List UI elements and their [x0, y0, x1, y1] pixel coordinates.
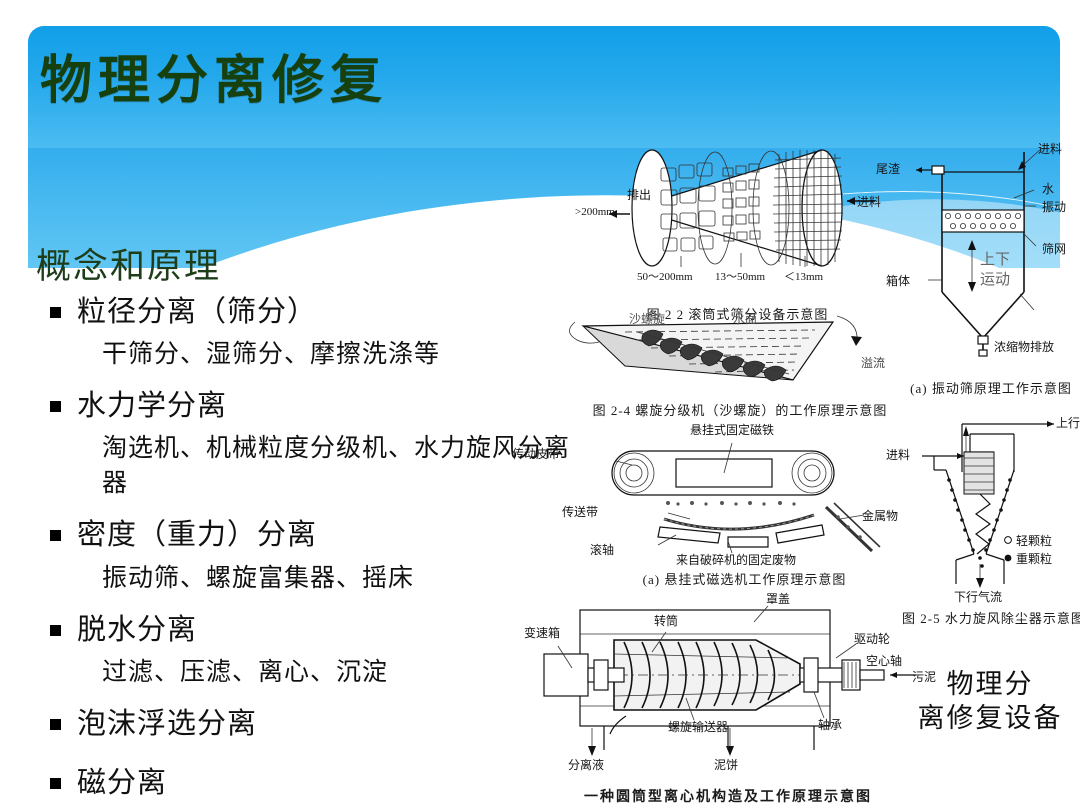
figure-label-light-particle: 轻颗粒	[1016, 532, 1052, 549]
figure-label-concentrate-discharge: 浓缩物排放	[994, 338, 1054, 355]
figure-label-feed: 进料	[886, 446, 910, 463]
figure-label-hollow-shaft: 空心轴	[866, 652, 902, 669]
figure-label-screen-mesh: 筛网	[1042, 240, 1066, 257]
figure-label-heavy-particle: 重颗粒	[1016, 550, 1052, 567]
figure-label-up-down-1: 上下	[980, 248, 1010, 269]
figure-label-discharge: 排出	[627, 186, 651, 203]
bullet-main-text: 磁分离	[77, 763, 167, 804]
figure-group-caption-line2: 离修复设备	[905, 702, 1075, 736]
figure-label-down-flow: 下行气流	[954, 588, 1002, 605]
figure-label-size-out: >200mm	[575, 206, 615, 218]
bullet-square-icon	[50, 719, 61, 730]
figure-label-water: 水	[1042, 180, 1054, 197]
figure-label-screw-conveyor: 螺旋输送器	[668, 718, 728, 735]
figure-label-mud-cake: 泥饼	[714, 756, 738, 773]
figure-label-bearing: 轴承	[818, 716, 842, 733]
figure-label-tailings: 尾渣	[876, 160, 900, 177]
bullet-main-text: 粒径分离（筛分）	[77, 292, 317, 333]
figure-label-crusher-waste: 来自破碎机的固定废物	[676, 551, 796, 568]
figure-caption: 图 2-4 螺旋分级机（沙螺旋）的工作原理示意图	[565, 400, 915, 419]
figure-label-conveyor: 传送带	[562, 503, 598, 520]
figure-spiral-classifier: 沙螺旋 水面 溢流 图 2-4 螺旋分级机（沙螺旋）的工作原理示意图	[565, 308, 915, 418]
bullet-main-text: 泡沫浮选分离	[77, 704, 257, 745]
figure-label-feed: 进料	[1038, 140, 1062, 157]
bullet-square-icon	[50, 530, 61, 541]
figure-caption: 一种圆筒型离心机构造及工作原理示意图	[518, 786, 938, 806]
list-item: 密度（重力）分离	[36, 515, 581, 556]
figure-caption: (a) 悬挂式磁选机工作原理示意图	[572, 569, 917, 588]
figure-label-roller: 滚轴	[590, 541, 614, 558]
bullet-square-icon	[50, 625, 61, 636]
figure-label-zone1: 50～200mm	[637, 268, 693, 284]
figure-group-caption-line1: 物理分	[905, 668, 1075, 702]
figure-label-metal: 金属物	[862, 507, 898, 524]
figure-label-box-body: 箱体	[886, 272, 910, 289]
figure-label-drive-wheel: 驱动轮	[854, 630, 890, 647]
bullet-list: 粒径分离（筛分） 干筛分、湿筛分、摩擦洗涤等 水力学分离 淘选机、机械粒度分级机…	[36, 292, 581, 808]
figure-label-overflow: 溢流	[861, 354, 885, 371]
figure-trommel-screen: 排出 >200mm 进料 50～200mm 13～50mm ＜13mm 图 2 …	[575, 138, 900, 308]
figure-caption: (a) 振动筛原理工作示意图	[902, 378, 1080, 397]
figure-label-zone2: 13～50mm	[715, 268, 765, 284]
bullet-main-text: 脱水分离	[77, 610, 197, 651]
list-item: 泡沫浮选分离	[36, 704, 581, 745]
list-item: 水力学分离	[36, 386, 581, 427]
figure-cyclone: 进料 上行气流 下行气流 轻颗粒 重颗粒 图 2-5 水力旋风除尘器示意图	[902, 408, 1080, 623]
figure-label-drive-belt: 传动皮带	[512, 445, 560, 462]
figure-label-up-down-2: 运动	[980, 268, 1010, 289]
bullet-square-icon	[50, 307, 61, 318]
figure-vibrating-screen: 进料 水 振动 筛网 尾渣 箱体 上下 运动 浓缩物排放 (a) 振动筛原理工作…	[902, 142, 1080, 392]
figure-label-drum: 转筒	[654, 612, 678, 629]
figure-label-up-flow: 上行气流	[1056, 414, 1080, 431]
bullet-main-text: 密度（重力）分离	[77, 515, 317, 556]
figure-label-separated-liquid: 分离液	[568, 756, 604, 773]
figure-label-vibration: 振动	[1042, 198, 1066, 215]
list-item: 磁分离	[36, 763, 581, 804]
list-item: 粒径分离（筛分）	[36, 292, 581, 333]
bullet-square-icon	[50, 778, 61, 789]
figure-label-zone3: ＜13mm	[784, 268, 823, 284]
figure-group-caption: 物理分 离修复设备	[905, 668, 1075, 736]
figure-label-spiral: 沙螺旋	[629, 310, 665, 327]
figure-label-feed: 进料	[857, 193, 881, 210]
figure-label-suspended-magnet: 悬挂式固定磁铁	[690, 421, 774, 438]
figure-label-water-surface: 水面	[733, 310, 757, 327]
figure-magnetic-separator: 传动皮带 悬挂式固定磁铁 传送带 滚轴 来自破碎机的固定废物 金属物 (a) 悬…	[572, 423, 917, 583]
figure-label-cover: 罩盖	[766, 590, 790, 607]
list-item: 脱水分离	[36, 610, 581, 651]
presentation-slide: 物理分离修复 概念和原理 粒径分离（筛分） 干筛分、湿筛分、摩擦洗涤等 水力学分…	[0, 0, 1080, 810]
bullet-square-icon	[50, 401, 61, 412]
figure-centrifuge: 变速箱 转筒 罩盖 驱动轮 空心轴 污泥 轴承 螺旋输送器 分离液 泥饼 一种圆…	[518, 588, 938, 798]
figure-label-gearbox: 变速箱	[524, 624, 560, 641]
bullet-main-text: 水力学分离	[77, 386, 227, 427]
figure-caption: 图 2-5 水力旋风除尘器示意图	[902, 608, 1080, 627]
section-heading: 概念和原理	[36, 238, 221, 289]
page-title: 物理分离修复	[40, 38, 388, 113]
